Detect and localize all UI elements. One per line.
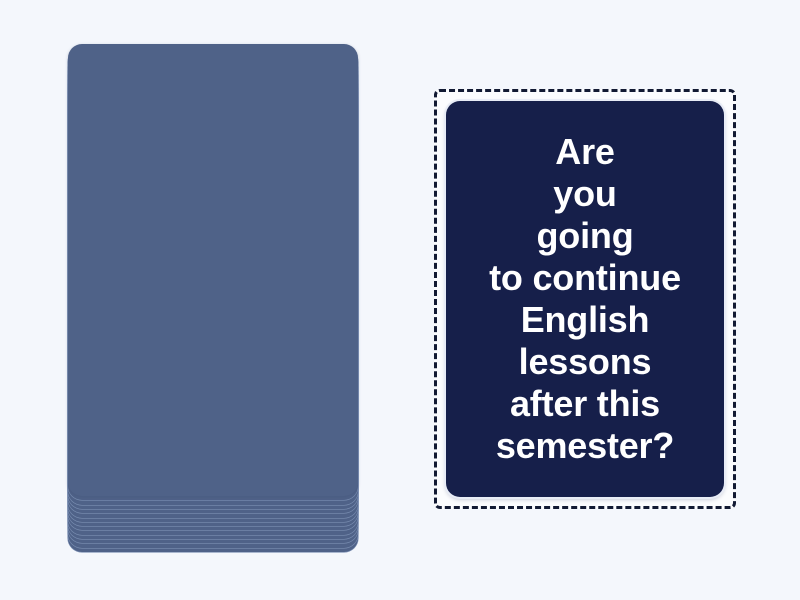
card-deck-top-card[interactable]	[68, 44, 358, 496]
question-card-text-line: lessons	[454, 341, 716, 383]
question-card-text-line: after this	[454, 383, 716, 425]
flashcard-stage: Areyougoingto continueEnglishlessonsafte…	[0, 0, 800, 600]
question-card-text-line: semester?	[454, 425, 716, 467]
question-card-text-line: going	[454, 215, 716, 257]
question-card[interactable]: Areyougoingto continueEnglishlessonsafte…	[446, 101, 724, 497]
question-card-selection-outline[interactable]: Areyougoingto continueEnglishlessonsafte…	[434, 89, 736, 509]
question-card-text-line: Are	[454, 131, 716, 173]
question-card-text-line: English	[454, 299, 716, 341]
card-deck[interactable]	[68, 44, 358, 552]
question-card-text-line: to continue	[454, 257, 716, 299]
question-card-text-line: you	[454, 173, 716, 215]
question-card-text: Areyougoingto continueEnglishlessonsafte…	[454, 131, 716, 467]
